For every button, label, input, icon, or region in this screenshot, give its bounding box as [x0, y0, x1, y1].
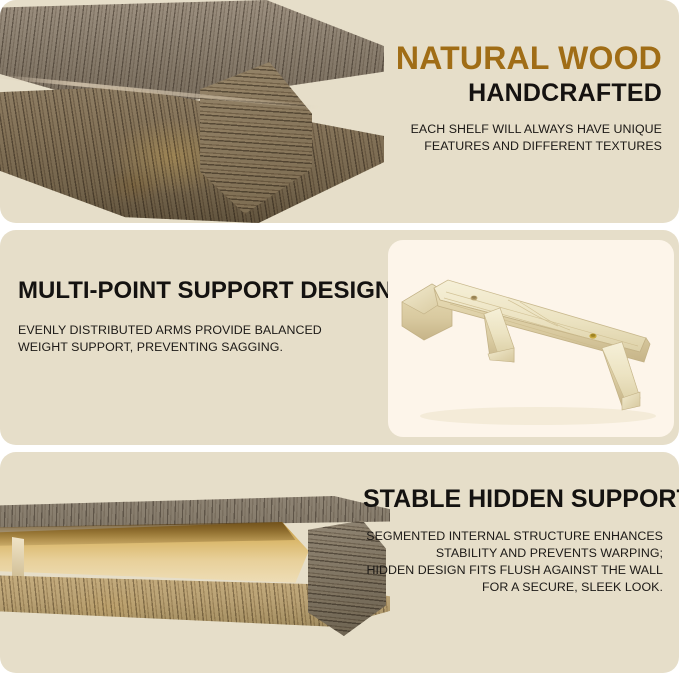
- panel-stable-hidden-support: STABLE HIDDEN SUPPORT SEGMENTED INTERNAL…: [0, 452, 679, 673]
- bracket-shadow: [420, 407, 656, 425]
- panel-gap-1: [0, 223, 679, 230]
- panel-natural-wood-text: NATURAL WOOD HANDCRAFTED EACH SHELF WILL…: [362, 42, 662, 155]
- panel-multi-point-text: MULTI-POINT SUPPORT DESIGN EVENLY DISTRI…: [18, 277, 368, 356]
- pine-bracket-illustration: [388, 240, 674, 437]
- panel-multi-point-support: MULTI-POINT SUPPORT DESIGN EVENLY DISTRI…: [0, 230, 679, 445]
- body-line: FOR A SECURE, SLEEK LOOK.: [482, 580, 663, 594]
- panel-gap-2: [0, 445, 679, 452]
- heading-stable-hidden-support: STABLE HIDDEN SUPPORT: [363, 485, 663, 514]
- panel-multi-point-body: EVENLY DISTRIBUTED ARMS PROVIDE BALANCED…: [18, 322, 368, 356]
- product-infographic: NATURAL WOOD HANDCRAFTED EACH SHELF WILL…: [0, 0, 679, 674]
- body-line: EACH SHELF WILL ALWAYS HAVE UNIQUE: [411, 122, 662, 136]
- panel-stable-hidden-body: SEGMENTED INTERNAL STRUCTURE ENHANCESSTA…: [363, 528, 663, 596]
- screw-head-left: [472, 296, 476, 299]
- body-line: WEIGHT SUPPORT, PREVENTING SAGGING.: [18, 340, 283, 354]
- bracket-image-card: [388, 240, 674, 437]
- body-line: EVENLY DISTRIBUTED ARMS PROVIDE BALANCED: [18, 323, 322, 337]
- body-line: STABILITY AND PREVENTS WARPING;: [436, 546, 663, 560]
- bracket-top-rail-face: [434, 280, 646, 352]
- shelf-front-face: [0, 78, 384, 223]
- body-line: HIDDEN DESIGN FITS FLUSH AGAINST THE WAL…: [367, 563, 664, 577]
- panel-stable-hidden-text: STABLE HIDDEN SUPPORT SEGMENTED INTERNAL…: [363, 485, 663, 596]
- hollow-shelf-image: [0, 496, 390, 636]
- heading-natural-wood: NATURAL WOOD: [362, 42, 662, 75]
- panel-natural-wood-body: EACH SHELF WILL ALWAYS HAVE UNIQUEFEATUR…: [362, 121, 662, 155]
- body-line: SEGMENTED INTERNAL STRUCTURE ENHANCES: [366, 529, 663, 543]
- heading-multi-point-support: MULTI-POINT SUPPORT DESIGN: [18, 277, 368, 305]
- panel-natural-wood: NATURAL WOOD HANDCRAFTED EACH SHELF WILL…: [0, 0, 679, 223]
- screw-head-right: [591, 334, 596, 337]
- subheading-handcrafted: HANDCRAFTED: [362, 80, 662, 106]
- wood-shelf-block-image: [0, 0, 384, 223]
- body-line: FEATURES AND DIFFERENT TEXTURES: [424, 139, 662, 153]
